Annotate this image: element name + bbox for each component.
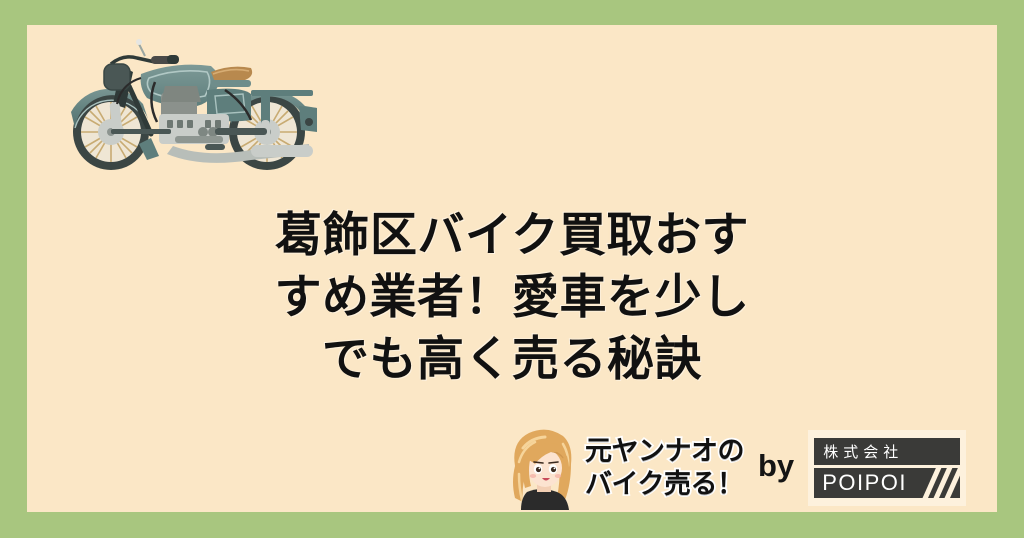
hero-card: 葛飾区バイク買取おす すめ業者！愛車を少し でも高く売る秘訣 (27, 25, 997, 512)
avatar (505, 426, 577, 510)
company-name: POIPOI (814, 470, 907, 496)
hero-banner: 葛飾区バイク買取おす すめ業者！愛車を少し でも高く売る秘訣 (0, 0, 1024, 538)
company-prefix: 株式会社 (814, 438, 960, 465)
vintage-motorcycle-illustration (55, 28, 345, 173)
company-name-row: POIPOI (814, 468, 960, 498)
company-logo[interactable]: 株式会社 POIPOI (808, 430, 966, 506)
by-label: by (758, 450, 794, 485)
branding-bar: 元ヤンナオの バイク売る！ by 株式会社 POIPOI (499, 423, 997, 512)
site-name: 元ヤンナオの バイク売る！ (585, 435, 744, 501)
page-title: 葛飾区バイク買取おす すめ業者！愛車を少し でも高く売る秘訣 (27, 204, 997, 390)
